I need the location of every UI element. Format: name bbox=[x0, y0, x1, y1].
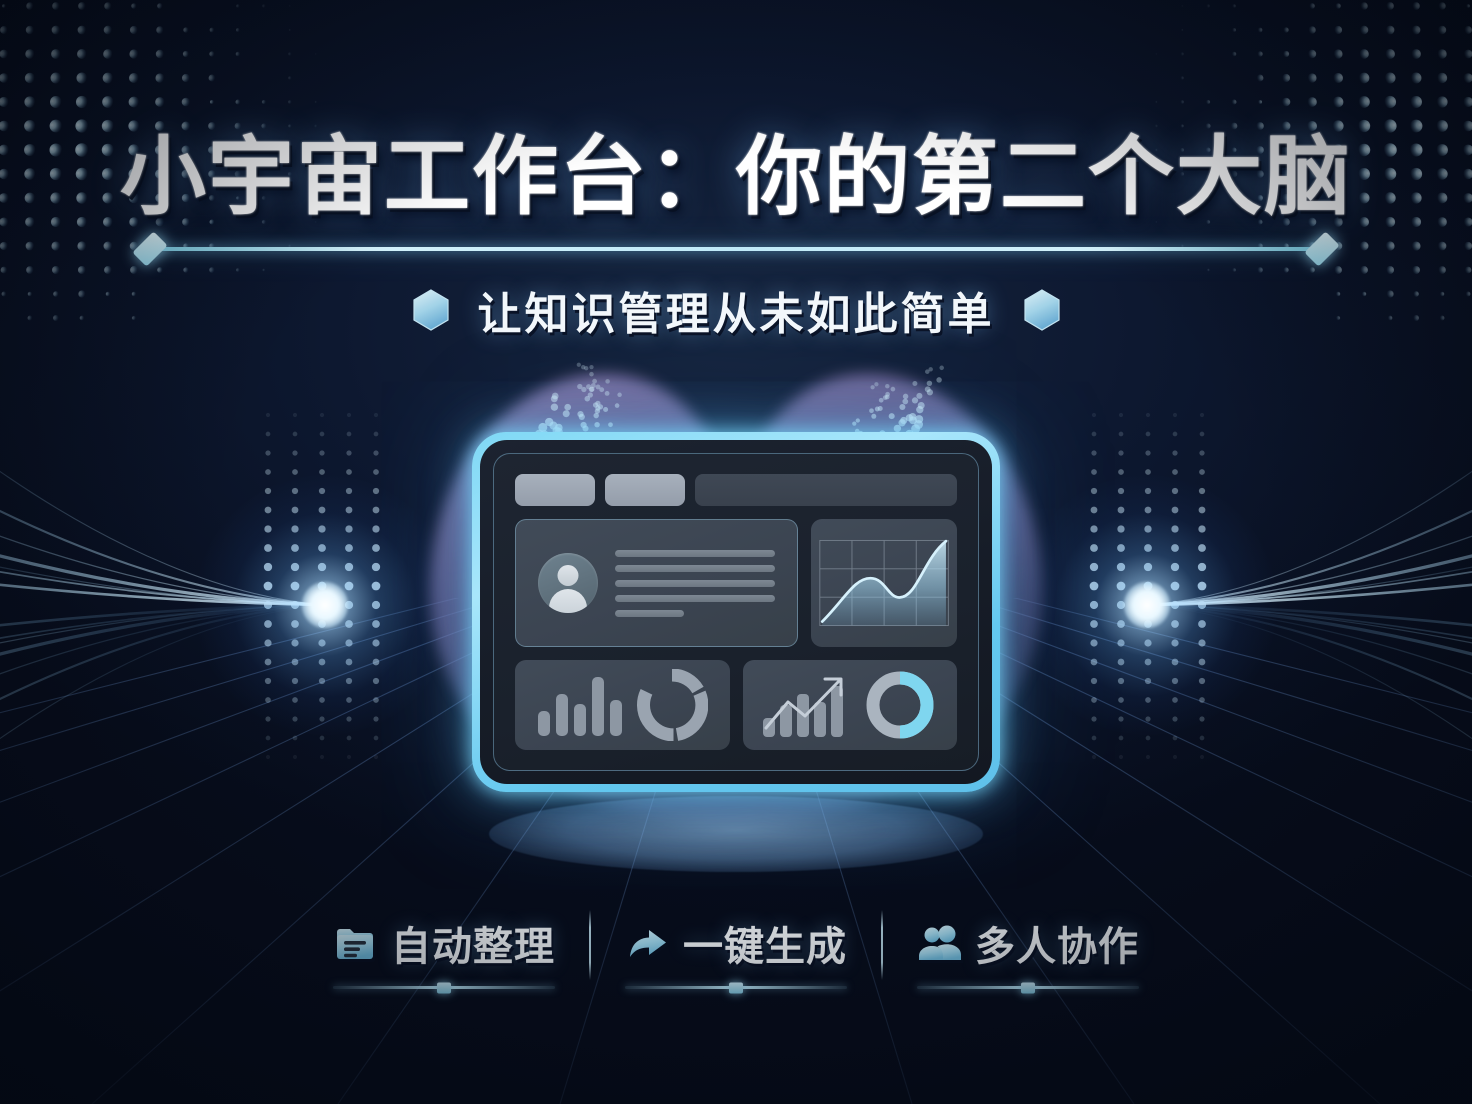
tablet-dashboard-mockup bbox=[472, 432, 1000, 792]
nav-pill-1[interactable] bbox=[515, 474, 595, 506]
main-title-text: 小宇宙工作台：你的第二个大脑 bbox=[0, 132, 1472, 222]
feature-item-one-click-generate[interactable]: 一键生成 bbox=[591, 914, 881, 989]
tablet-frame bbox=[472, 432, 1000, 792]
tablet-bezel bbox=[480, 440, 992, 784]
profile-text-lines bbox=[615, 550, 775, 617]
feature-item-auto-organize[interactable]: 自动整理 bbox=[299, 914, 589, 989]
diamond-cap-right-icon bbox=[1304, 231, 1339, 266]
trend-and-donut-card[interactable] bbox=[743, 660, 958, 750]
poster-stage: 小宇宙工作台：你的第二个大脑 让知识管理从未如此简单 bbox=[0, 0, 1472, 1104]
hexagon-left-icon bbox=[412, 289, 450, 331]
divider-bar bbox=[150, 247, 1322, 251]
subtitle-row: 让知识管理从未如此简单 bbox=[0, 278, 1472, 342]
feature-underline bbox=[625, 986, 847, 989]
tablet-ground-glow bbox=[489, 796, 983, 872]
search-bar-placeholder[interactable] bbox=[695, 474, 957, 506]
dashboard-row-bottom bbox=[515, 660, 957, 750]
page-title: 小宇宙工作台：你的第二个大脑 bbox=[0, 132, 1472, 222]
diamond-cap-left-icon bbox=[132, 231, 167, 266]
profile-card[interactable] bbox=[515, 519, 798, 647]
folder-document-icon bbox=[333, 921, 377, 965]
dashboard-topbar bbox=[515, 474, 957, 506]
donut-chart-icon bbox=[636, 669, 708, 741]
trending-up-arrow-icon bbox=[762, 672, 852, 738]
bar-and-donut-card[interactable] bbox=[515, 660, 730, 750]
feature-list: 自动整理 一键生成 bbox=[0, 914, 1472, 989]
dashboard-screen bbox=[493, 453, 979, 771]
feature-underline-knob bbox=[729, 982, 743, 993]
feature-label: 一键生成 bbox=[683, 914, 847, 972]
hexagon-right-icon bbox=[1023, 289, 1061, 331]
bar-chart-icon bbox=[536, 674, 622, 736]
nav-pill-2[interactable] bbox=[605, 474, 685, 506]
share-arrow-icon bbox=[625, 921, 669, 965]
user-avatar-icon bbox=[538, 553, 598, 613]
dashboard-row-top bbox=[515, 519, 957, 647]
users-group-icon bbox=[917, 921, 961, 965]
feature-underline-knob bbox=[1021, 982, 1035, 993]
feature-label: 自动整理 bbox=[391, 914, 555, 972]
feature-underline-knob bbox=[437, 982, 451, 993]
feature-label: 多人协作 bbox=[975, 914, 1139, 972]
feature-item-collaboration[interactable]: 多人协作 bbox=[883, 914, 1173, 989]
feature-underline bbox=[333, 986, 555, 989]
subtitle-text: 让知识管理从未如此简单 bbox=[478, 278, 995, 342]
donut-chart-highlight-icon bbox=[863, 668, 937, 742]
line-chart-card[interactable] bbox=[811, 519, 957, 647]
area-chart-icon bbox=[811, 519, 957, 647]
title-divider bbox=[0, 247, 1472, 251]
feature-underline bbox=[917, 986, 1139, 989]
